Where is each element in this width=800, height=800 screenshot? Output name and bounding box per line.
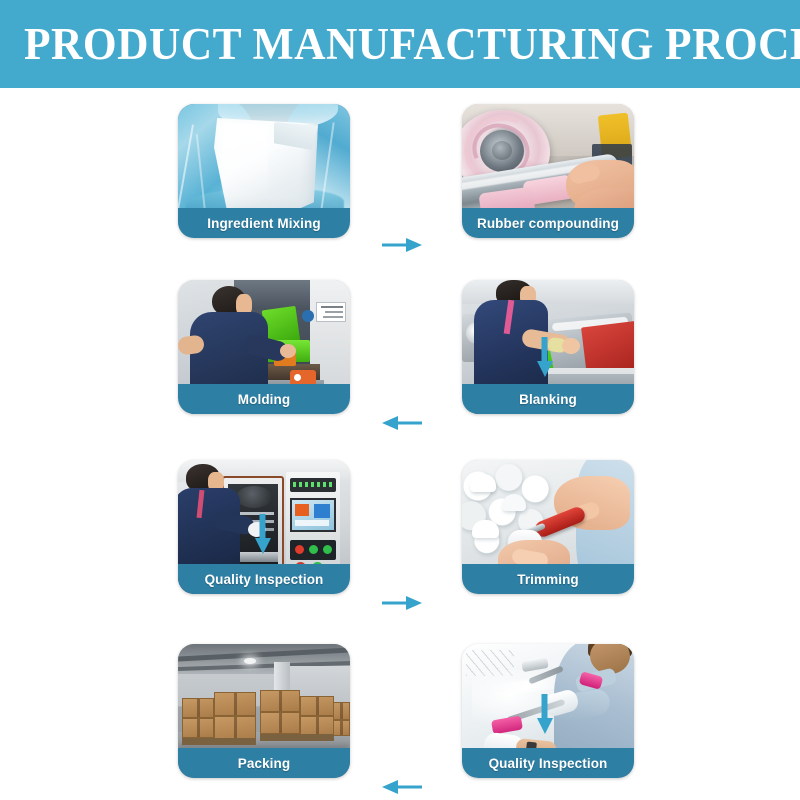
page-title: PRODUCT MANUFACTURING PROCESS	[24, 22, 800, 67]
step-caption: Quality Inspection	[178, 564, 350, 594]
step-caption: Blanking	[462, 384, 634, 414]
arrow-right-icon	[380, 586, 424, 620]
arrow-down-icon	[528, 692, 562, 736]
arrow-left-icon	[380, 406, 424, 440]
process-flow-grid: Ingredient Mixing	[0, 88, 800, 800]
process-step-trimming[interactable]: Trimming	[462, 460, 634, 594]
page-header: PRODUCT MANUFACTURING PROCESS	[0, 0, 800, 88]
step-caption: Trimming	[462, 564, 634, 594]
step-caption: Ingredient Mixing	[178, 208, 350, 238]
step-caption: Packing	[178, 748, 350, 778]
arrow-left-icon	[380, 770, 424, 800]
arrow-down-icon	[528, 335, 562, 379]
process-step-ingredient-mixing[interactable]: Ingredient Mixing	[178, 104, 350, 238]
process-step-packing[interactable]: Packing	[178, 644, 350, 778]
arrow-right-icon	[380, 228, 424, 262]
step-caption: Molding	[178, 384, 350, 414]
step-caption: Rubber compounding	[462, 208, 634, 238]
step-caption: Quality Inspection	[462, 748, 634, 778]
process-step-molding[interactable]: Molding	[178, 280, 350, 414]
arrow-down-icon	[246, 512, 280, 556]
process-step-rubber-compounding[interactable]: Rubber compounding	[462, 104, 634, 238]
manufacturing-process-infographic: PRODUCT MANUFACTURING PROCESS	[0, 0, 800, 800]
